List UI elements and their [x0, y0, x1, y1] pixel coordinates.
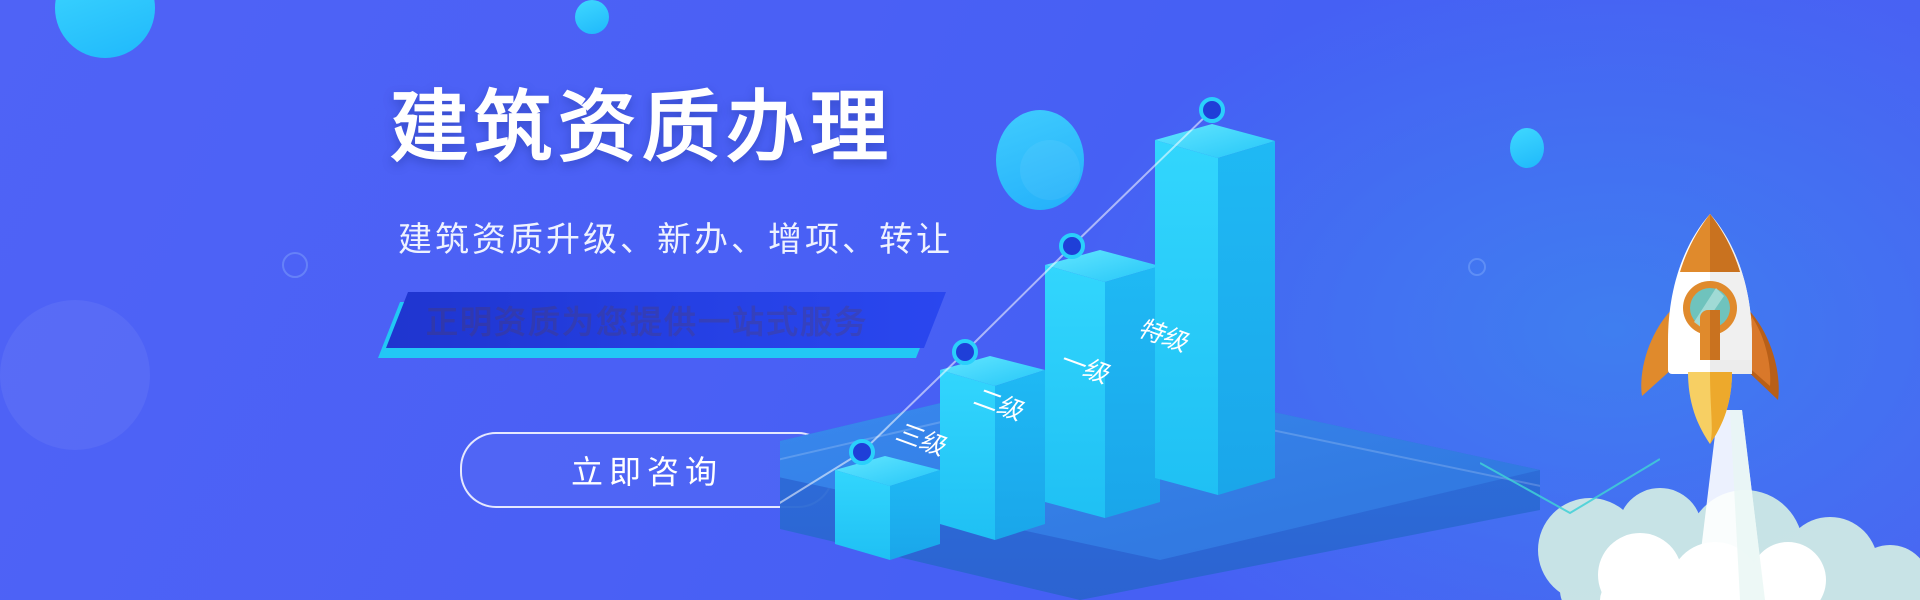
bar-er-ji	[940, 356, 1045, 540]
promo-banner: 建筑资质办理 建筑资质升级、新办、增项、转让 正明资质为您提供一站式服务 立即咨…	[0, 0, 1920, 600]
consult-now-button[interactable]: 立即咨询	[460, 432, 834, 508]
accent-line	[1480, 455, 1660, 545]
chart-svg: 三级 二级 一级 特级	[780, 40, 1540, 600]
isometric-bar-chart: 三级 二级 一级 特级	[780, 40, 1540, 600]
bar-te-ji	[1155, 124, 1275, 495]
bar-san-ji	[835, 456, 940, 560]
